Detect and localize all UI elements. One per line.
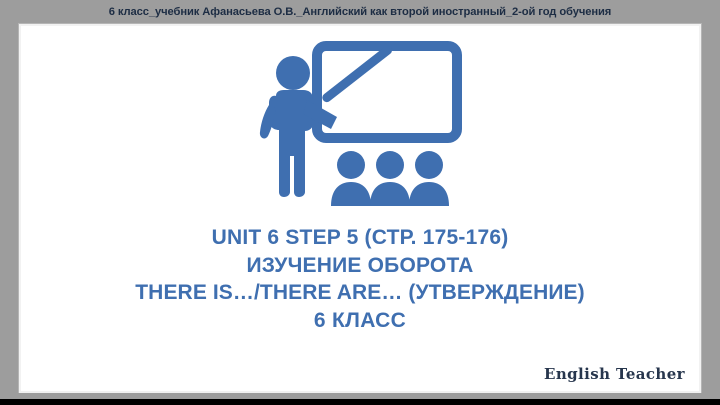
slide-root: 6 класс_учебник Афанасьева О.В._Английск…	[0, 0, 720, 405]
lesson-heading-line-unit: UNIT 6 STEP 5 (СТР. 175-176)	[21, 224, 699, 252]
student-figure-icon	[331, 151, 371, 206]
lesson-heading-line-grade: 6 КЛАСС	[21, 307, 699, 335]
pointer-stick-icon	[321, 44, 394, 104]
student-figure-icon	[370, 151, 410, 206]
course-title: 6 класс_учебник Афанасьева О.В._Английск…	[109, 6, 611, 18]
teacher-figure-icon	[260, 56, 337, 197]
header-band: 6 класс_учебник Афанасьева О.В._Английск…	[0, 0, 720, 24]
author-signature: English Teacher	[544, 365, 685, 383]
bottom-black-bar	[0, 399, 720, 405]
classroom-teaching-illustration	[245, 40, 475, 210]
lesson-heading-line-structure: THERE IS…/THERE ARE… (УТВЕРЖДЕНИЕ)	[21, 279, 699, 307]
student-figure-icon	[409, 151, 449, 206]
slide-canvas: UNIT 6 STEP 5 (СТР. 175-176) ИЗУЧЕНИЕ ОБ…	[21, 26, 699, 391]
slide-frame: UNIT 6 STEP 5 (СТР. 175-176) ИЗУЧЕНИЕ ОБ…	[19, 24, 701, 393]
lesson-heading: UNIT 6 STEP 5 (СТР. 175-176) ИЗУЧЕНИЕ ОБ…	[21, 224, 699, 335]
lesson-heading-line-topic: ИЗУЧЕНИЕ ОБОРОТА	[21, 252, 699, 280]
